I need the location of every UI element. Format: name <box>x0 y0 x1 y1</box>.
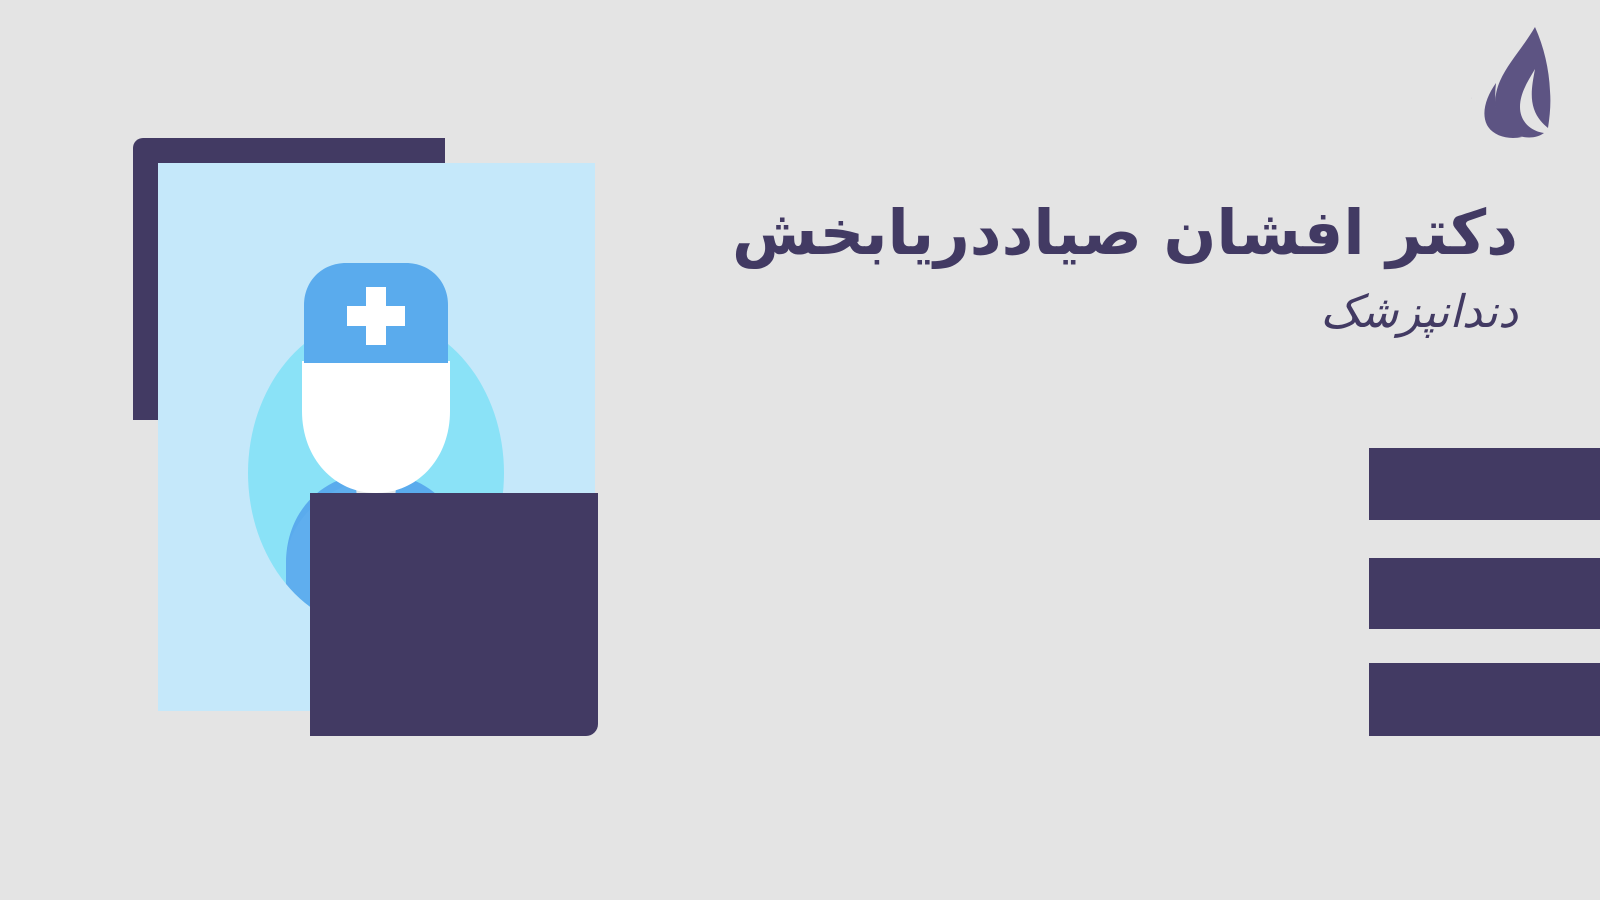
flame-icon <box>1478 23 1570 141</box>
decorative-stripe-3 <box>1369 663 1600 736</box>
decorative-stripe-2 <box>1369 558 1600 629</box>
doctor-name: دکتر افشان صیاددریابخش <box>658 196 1518 269</box>
decorative-stripes <box>1369 448 1600 736</box>
front-accent-square <box>310 493 598 736</box>
doctor-info: دکتر افشان صیاددریابخش دندانپزشک <box>658 196 1518 339</box>
brand-wordmark: اکسیریاب <box>1232 22 1472 142</box>
doctor-specialty: دندانپزشک <box>658 285 1518 339</box>
doctor-profile-banner: اکسیریاب <box>0 0 1600 900</box>
doctor-illustration <box>133 138 598 736</box>
decorative-stripe-1 <box>1369 448 1600 520</box>
brand-wordmark-text: اکسیریاب <box>1468 52 1472 125</box>
brand-logo[interactable]: اکسیریاب <box>1232 22 1570 142</box>
